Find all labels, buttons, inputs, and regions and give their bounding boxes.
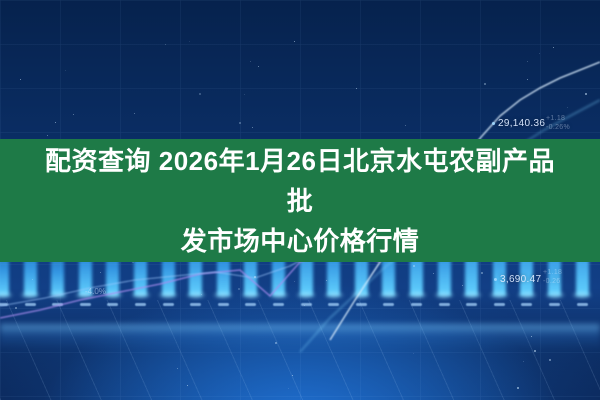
particle xyxy=(531,336,532,337)
particle xyxy=(15,307,17,309)
data-label-dim-c: +1.18 xyxy=(543,269,562,276)
particle xyxy=(275,342,277,344)
page-title: 配资查询 2026年1月26日北京水屯农副产品批 发市场中心价格行情 xyxy=(40,141,560,261)
data-point-dot xyxy=(494,278,497,281)
page-title-line-1: 配资查询 2026年1月26日北京水屯农副产品批 xyxy=(40,141,560,221)
particle xyxy=(527,79,528,80)
data-label-dim-a: +1.18 xyxy=(546,115,565,122)
screenshot-canvas: 29,140.36 19,580 3,690.47 7,465.67 0.0% … xyxy=(0,0,600,400)
data-point-dot xyxy=(492,122,495,125)
particle xyxy=(134,113,135,114)
particle xyxy=(433,273,434,274)
data-label-29140: 29,140.36 xyxy=(492,118,545,129)
particle xyxy=(201,294,202,295)
particle xyxy=(326,280,327,281)
data-label-dim-d: -0.26 xyxy=(543,278,560,285)
particle xyxy=(294,281,295,282)
particle xyxy=(539,53,540,54)
particle xyxy=(252,127,253,128)
title-banner: 配资查询 2026年1月26日北京水屯农副产品批 发市场中心价格行情 xyxy=(0,139,600,262)
particle xyxy=(20,79,21,80)
particle xyxy=(65,70,66,71)
data-label-3690: 3,690.47 xyxy=(494,274,541,285)
particle xyxy=(238,288,240,290)
particle xyxy=(294,41,295,42)
particle xyxy=(549,359,551,361)
particle xyxy=(187,385,188,386)
particle xyxy=(413,353,414,354)
percent-label-negative: -4.0% xyxy=(85,287,106,296)
particle xyxy=(244,94,245,95)
particle xyxy=(481,272,483,274)
page-title-line-2: 发市场中心价格行情 xyxy=(40,221,560,261)
particle xyxy=(177,368,178,369)
particle xyxy=(527,61,528,62)
data-label-dim-b: -0.26% xyxy=(546,124,570,131)
particle xyxy=(254,276,256,278)
particle xyxy=(100,272,101,273)
particle xyxy=(55,122,56,123)
